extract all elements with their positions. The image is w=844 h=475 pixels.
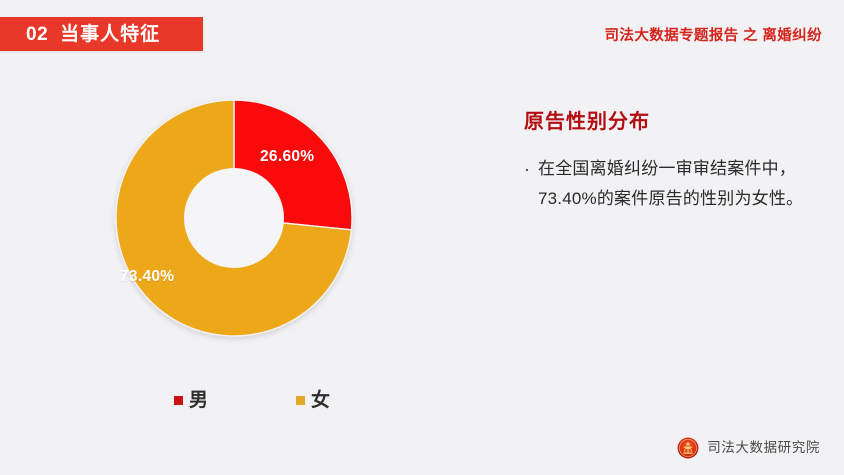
legend-swatch-female-icon bbox=[296, 396, 305, 405]
slice-label-male: 26.60% bbox=[260, 148, 314, 166]
report-title: 司法大数据专题报告 之 离婚纠纷 bbox=[605, 24, 822, 45]
legend-swatch-male-icon bbox=[174, 396, 183, 405]
brand-footer: 司法大数据研究院 bbox=[677, 437, 820, 459]
section-number: 02 bbox=[26, 25, 48, 44]
legend-label-female: 女 bbox=[311, 391, 330, 410]
legend-label-male: 男 bbox=[189, 391, 208, 410]
insight-heading: 原告性别分布 bbox=[524, 112, 824, 132]
insight-bullet: · 在全国离婚纠纷一审审结案件中，73.40%的案件原告的性别为女性。 bbox=[524, 154, 824, 214]
section-banner: 02 当事人特征 bbox=[0, 17, 203, 51]
judicial-emblem-icon bbox=[677, 437, 699, 459]
legend-item-male[interactable]: 男 bbox=[174, 388, 208, 412]
slice-label-female: 73.40% bbox=[120, 268, 174, 286]
donut-chart: 26.60% 73.40% bbox=[114, 98, 354, 338]
insight-panel: 原告性别分布 · 在全国离婚纠纷一审审结案件中，73.40%的案件原告的性别为女… bbox=[524, 112, 824, 214]
donut-svg bbox=[114, 98, 354, 338]
donut-hole bbox=[184, 168, 284, 268]
slide-root: 02 当事人特征 司法大数据专题报告 之 离婚纠纷 26.60% 73.40% … bbox=[0, 0, 844, 475]
legend-item-female[interactable]: 女 bbox=[296, 388, 330, 412]
bullet-dot-icon: · bbox=[524, 154, 530, 184]
brand-name: 司法大数据研究院 bbox=[707, 441, 820, 455]
section-title: 当事人特征 bbox=[60, 25, 160, 44]
donut-graphic bbox=[114, 98, 354, 338]
insight-text: 在全国离婚纠纷一审审结案件中，73.40%的案件原告的性别为女性。 bbox=[538, 154, 824, 214]
chart-legend: 男 女 bbox=[114, 388, 374, 412]
